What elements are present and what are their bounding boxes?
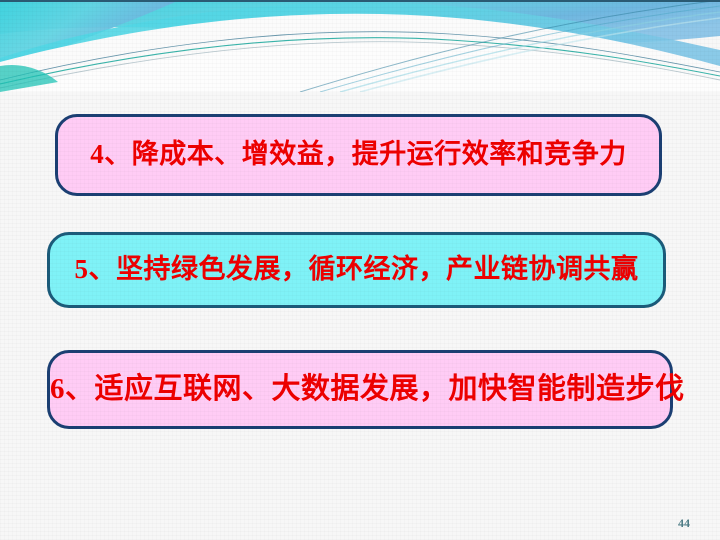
presentation-slide: 4、降成本、增效益，提升运行效率和竞争力 5、坚持绿色发展，循环经济，产业链协调… [0, 0, 720, 540]
slide-number: 44 [678, 516, 690, 531]
callout-box-6: 6、适应互联网、大数据发展，加快智能制造步伐 [47, 350, 673, 429]
top-edge-rule [0, 0, 720, 2]
decorative-wave-banner [0, 0, 720, 92]
callout-box-4: 4、降成本、增效益，提升运行效率和竞争力 [55, 114, 662, 196]
callout-text-6: 6、适应互联网、大数据发展，加快智能制造步伐 [50, 374, 670, 406]
callout-text-5: 5、坚持绿色发展，循环经济，产业链协调共赢 [50, 255, 663, 285]
callout-box-5: 5、坚持绿色发展，循环经济，产业链协调共赢 [47, 232, 666, 308]
callout-text-4: 4、降成本、增效益，提升运行效率和竞争力 [58, 140, 659, 170]
